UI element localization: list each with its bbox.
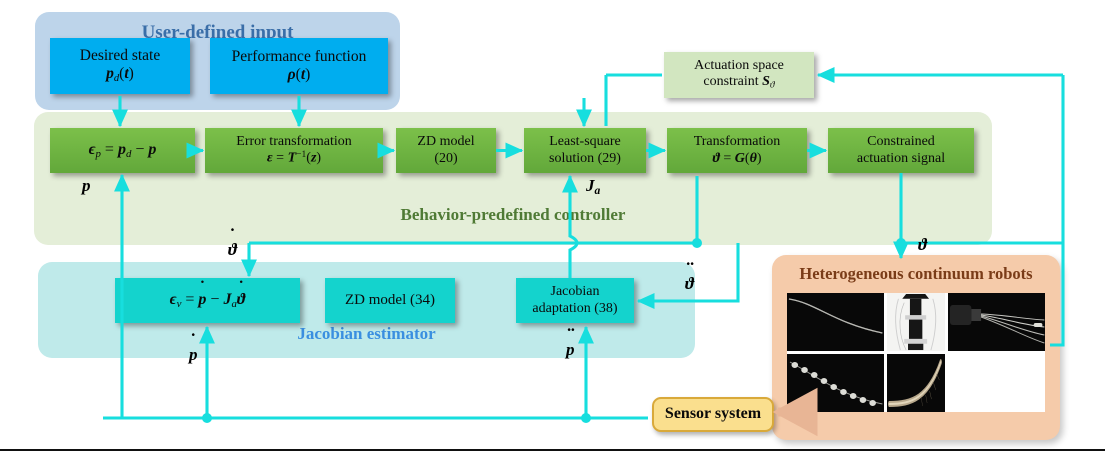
block-transformation-text: Transformation ϑ = G(θ) (694, 134, 781, 167)
block-sensor-system-text: Sensor system (665, 405, 761, 424)
label-theta-ddot: ϑ (685, 274, 694, 294)
robot-photo-mosaic (787, 293, 1045, 412)
group-estimator-title: Jacobian estimator (38, 324, 695, 344)
block-jacobian-adaptation[interactable]: Jacobian adaptation (38) (516, 278, 634, 323)
block-zd-model-20-text: ZD model (20) (417, 134, 474, 167)
block-least-square-text: Least-square solution (29) (549, 134, 621, 167)
block-actuation-space-constraint-text: Actuation space constraint Sϑ (694, 58, 784, 92)
robot-panel-title: Heterogeneous continuum robots (772, 264, 1060, 284)
block-position-error-text: ϵp = pd − p (89, 141, 157, 161)
block-zd-model-34[interactable]: ZD model (34) (325, 278, 455, 323)
block-constrained-actuation-text: Constrained actuation signal (857, 134, 945, 167)
label-p-ddot: p (566, 340, 575, 360)
block-jacobian-adaptation-text: Jacobian adaptation (38) (532, 284, 617, 317)
block-zd-model-34-text: ZD model (34) (345, 292, 435, 310)
block-sensor-system[interactable]: Sensor system (652, 397, 774, 432)
block-velocity-error-text: ϵv = p − Jaϑ (170, 291, 246, 311)
block-error-transformation-text: Error transformation ε = T−1(z) (236, 134, 351, 167)
block-velocity-error[interactable]: ϵv = p − Jaϑ (115, 278, 300, 323)
block-zd-model-20[interactable]: ZD model (20) (396, 128, 496, 173)
block-constrained-actuation-signal[interactable]: Constrained actuation signal (828, 128, 974, 173)
label-jacobian-a: Ja (586, 176, 600, 197)
label-theta: ϑ (918, 235, 927, 255)
robot-photo-flexible-fiber (787, 293, 884, 351)
group-heterogeneous-continuum-robots: Heterogeneous continuum robots (772, 255, 1060, 440)
label-p-dot: p (189, 345, 198, 365)
group-controller-title: Behavior-predefined controller (34, 205, 992, 225)
block-least-square-solution[interactable]: Least-square solution (29) (524, 128, 646, 173)
block-desired-state-text: Desired state pd(t) (80, 47, 160, 86)
block-desired-state[interactable]: Desired state pd(t) (50, 38, 190, 94)
label-p: p (82, 176, 91, 196)
diagram-canvas: User-defined input Behavior-predefined c… (0, 0, 1105, 465)
robot-photo-curved-manipulator (887, 354, 944, 412)
block-position-error[interactable]: ϵp = pd − p (50, 128, 195, 173)
block-error-transformation[interactable]: Error transformation ε = T−1(z) (205, 128, 383, 173)
bottom-rule (0, 449, 1105, 451)
block-actuation-space-constraint[interactable]: Actuation space constraint Sϑ (664, 52, 814, 98)
robot-photo-beaded-backbone (787, 354, 884, 412)
block-performance-function-text: Performance function ρ(t) (232, 48, 367, 85)
block-transformation[interactable]: Transformation ϑ = G(θ) (667, 128, 807, 173)
block-performance-function[interactable]: Performance function ρ(t) (210, 38, 388, 94)
label-theta-dot: ϑ (228, 240, 237, 260)
robot-photo-segmented-actuator (887, 293, 944, 351)
robot-photo-multi-tendon-head (948, 293, 1045, 351)
